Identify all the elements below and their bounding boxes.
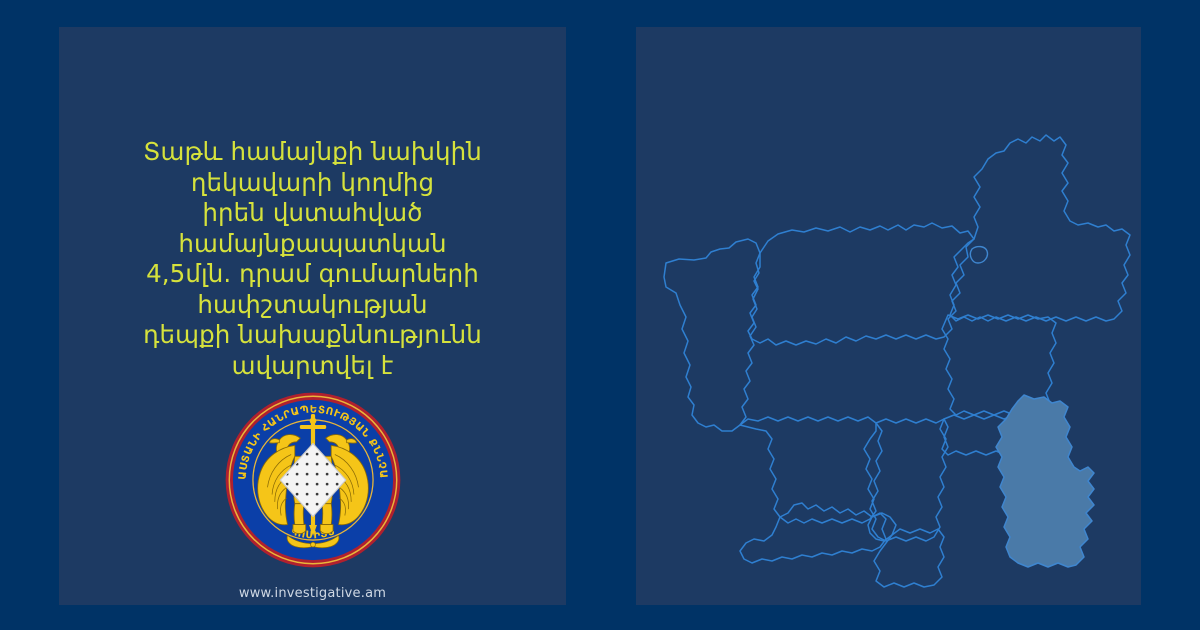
armenia-provinces-map[interactable] (636, 27, 1141, 605)
right-map-panel (636, 27, 1141, 605)
emblem-container: ՀԱՅԱՍՏԱՆԻ ՀԱՆՐԱՊԵՏՈՒԹՅԱՆ ՔՆՆՉԱԿԱՆ ԿՈՄԻՏԵ (59, 389, 566, 571)
province-shirak[interactable] (664, 239, 760, 431)
province-lori[interactable] (748, 223, 974, 345)
page-title: Տաթև համայնքի նախկին ղեկավարի կողմից իրե… (77, 137, 548, 381)
lake-sevan-outline (970, 247, 987, 263)
poster-canvas: Տաթև համայնքի նախկին ղեկավարի կողմից իրե… (0, 0, 1200, 630)
investigative-committee-emblem-icon: ՀԱՅԱՍՏԱՆԻ ՀԱՆՐԱՊԵՏՈՒԹՅԱՆ ՔՆՆՉԱԿԱՆ ԿՈՄԻՏԵ (222, 389, 404, 571)
province-tavush[interactable] (950, 135, 1130, 321)
website-url[interactable]: www.investigative.am (59, 586, 566, 601)
province-armavir[interactable] (740, 503, 886, 563)
province-syunik-highlighted[interactable] (996, 395, 1094, 567)
left-content-panel: Տաթև համայնքի նախկին ղեկավարի կողմից իրե… (59, 27, 566, 605)
province-kotayk[interactable] (864, 419, 948, 541)
